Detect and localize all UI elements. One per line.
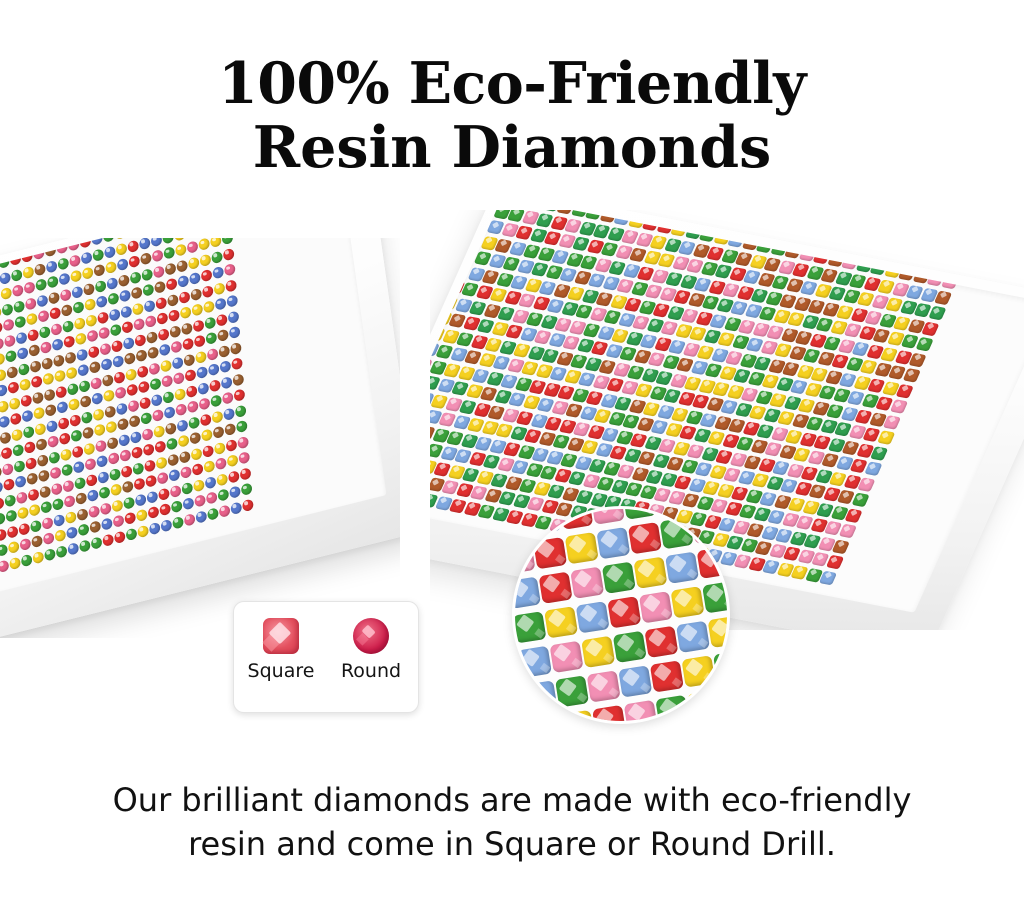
round-drill-bead	[35, 438, 47, 452]
round-gem-icon	[353, 618, 389, 654]
round-drill-bead	[28, 344, 40, 358]
round-drill-bead	[82, 266, 94, 280]
round-drill-bead	[230, 341, 242, 355]
round-drill-bead	[109, 467, 121, 481]
round-drill-bead	[16, 491, 28, 505]
round-drill-bead	[160, 359, 172, 373]
round-drill-bead	[136, 509, 148, 523]
round-drill-bead	[237, 435, 249, 449]
round-drill-bead	[112, 355, 124, 369]
round-drill-bead	[0, 255, 10, 269]
magnified-square-drill	[681, 655, 715, 687]
round-drill-bead	[238, 451, 250, 465]
round-drill-bead	[47, 435, 59, 449]
round-drill-bead	[167, 293, 179, 307]
square-drill-bead	[445, 245, 463, 260]
round-drill-bead	[108, 308, 120, 322]
round-drill-bead	[192, 463, 204, 477]
round-drill-bead	[60, 448, 72, 462]
round-drill-bead	[3, 318, 15, 332]
round-drill-bead	[210, 394, 222, 408]
round-drill-bead	[30, 519, 42, 533]
round-drill-bead	[211, 250, 223, 264]
round-drill-bead	[119, 449, 131, 463]
round-drill-bead	[117, 417, 129, 431]
round-drill-bead	[114, 386, 126, 400]
round-drill-bead	[44, 547, 56, 561]
round-drill-bead	[19, 378, 31, 392]
round-drill-bead	[146, 330, 158, 344]
magnified-square-drill	[512, 720, 531, 724]
legend-label-round: Round	[341, 660, 401, 682]
round-drill-bead	[223, 407, 235, 421]
magnified-square-drill	[523, 680, 557, 712]
round-drill-bead	[24, 441, 36, 455]
round-drill-bead	[230, 501, 242, 515]
magnified-square-drill	[512, 611, 546, 643]
round-drill-bead	[175, 243, 187, 257]
round-drill-bead	[178, 290, 190, 304]
round-drill-bead	[85, 313, 97, 327]
magnified-square-drill	[660, 517, 694, 549]
round-drill-bead	[174, 387, 186, 401]
round-drill-bead	[65, 510, 77, 524]
magnified-square-drill	[592, 705, 626, 724]
round-drill-bead	[141, 427, 153, 441]
magnified-square-drill	[618, 665, 652, 697]
round-drill-bead	[153, 424, 165, 438]
round-drill-bead	[17, 347, 29, 361]
round-drill-bead	[143, 299, 155, 313]
round-drill-bead	[111, 339, 123, 353]
round-drill-bead	[146, 490, 158, 504]
round-drill-bead	[100, 502, 112, 516]
round-drill-bead	[143, 443, 155, 457]
round-drill-bead	[152, 409, 164, 423]
round-drill-bead	[80, 251, 92, 265]
round-drill-bead	[13, 459, 25, 473]
round-drill-bead	[93, 264, 105, 278]
round-drill-bead	[27, 488, 39, 502]
round-drill-bead	[124, 352, 136, 366]
round-drill-bead	[4, 334, 16, 348]
magnifier-circle	[512, 506, 730, 724]
magnified-square-drill	[596, 527, 630, 559]
round-drill-bead	[222, 391, 234, 405]
round-drill-bead	[22, 265, 34, 279]
round-drill-bead	[204, 475, 216, 489]
round-drill-bead	[182, 497, 194, 511]
round-drill-bead	[226, 454, 238, 468]
round-drill-bead	[39, 325, 51, 339]
round-drill-bead	[192, 319, 204, 333]
round-drill-bead	[195, 510, 207, 524]
round-drill-bead	[204, 316, 216, 330]
round-drill-bead	[176, 419, 188, 433]
round-drill-bead	[0, 543, 8, 557]
round-drill-bead	[62, 319, 74, 333]
round-drill-bead	[217, 488, 229, 502]
round-drill-bead	[130, 430, 142, 444]
round-drill-bead	[38, 469, 50, 483]
round-drill-bead	[168, 309, 180, 323]
product-infographic: 100% Eco-Friendly Resin Diamonds Square …	[0, 0, 1024, 923]
round-drill-bead	[172, 356, 184, 370]
round-drill-bead	[41, 356, 53, 370]
round-drill-bead	[198, 397, 210, 411]
round-drill-bead	[226, 294, 238, 308]
round-drill-bead	[198, 238, 210, 251]
magnified-square-drill	[581, 636, 615, 668]
round-drill-bead	[29, 359, 41, 373]
round-drill-bead	[18, 522, 30, 536]
square-drill-bead	[430, 292, 444, 307]
legend-item-square[interactable]: Square	[243, 618, 319, 682]
round-drill-bead	[74, 476, 86, 490]
round-drill-bead	[32, 391, 44, 405]
round-drill-bead	[215, 457, 227, 471]
round-drill-bead	[55, 545, 67, 559]
round-drill-bead	[133, 318, 145, 332]
round-drill-bead	[83, 442, 95, 456]
round-drill-bead	[220, 376, 232, 390]
square-drill-bead	[432, 277, 450, 292]
round-drill-bead	[26, 472, 38, 486]
square-gem-icon	[263, 618, 299, 654]
round-drill-bead	[106, 436, 118, 450]
round-drill-bead	[131, 286, 143, 300]
round-drill-bead	[105, 261, 117, 275]
round-drill-bead	[229, 485, 241, 499]
round-drill-bead	[8, 396, 20, 410]
round-drill-bead	[47, 275, 59, 289]
round-drill-bead	[75, 332, 87, 346]
round-drill-bead	[23, 281, 35, 295]
magnified-square-drill	[639, 591, 673, 623]
round-drill-bead	[13, 300, 25, 314]
round-drill-bead	[72, 445, 84, 459]
round-drill-bead	[3, 478, 15, 492]
round-drill-bead	[133, 477, 145, 491]
round-drill-bead	[55, 385, 67, 399]
round-drill-bead	[135, 493, 147, 507]
round-drill-bead	[206, 491, 218, 505]
round-drill-bead	[196, 366, 208, 380]
round-drill-bead	[2, 462, 14, 476]
round-drill-bead	[193, 478, 205, 492]
round-drill-bead	[12, 443, 24, 457]
page-title: 100% Eco-Friendly Resin Diamonds	[0, 52, 1024, 180]
magnified-square-drill	[518, 646, 552, 678]
round-drill-bead	[89, 520, 101, 534]
round-drill-bead	[112, 514, 124, 528]
round-drill-bead	[163, 246, 175, 260]
round-drill-bead	[123, 336, 135, 350]
tray-well-left	[0, 238, 387, 612]
round-drill-bead	[241, 482, 253, 496]
round-drill-bead	[70, 269, 82, 283]
round-drill-bead	[158, 487, 170, 501]
round-drill-bead	[77, 363, 89, 377]
round-drill-bead	[32, 550, 44, 564]
round-drill-bead	[53, 353, 65, 367]
round-drill-bead	[51, 482, 63, 496]
round-drill-bead	[14, 315, 26, 329]
round-drill-bead	[78, 379, 90, 393]
round-drill-bead	[79, 539, 91, 553]
round-drill-bead	[44, 244, 56, 258]
round-drill-bead	[117, 258, 129, 272]
round-drill-bead	[126, 383, 138, 397]
round-drill-bead	[26, 312, 38, 326]
round-drill-bead	[116, 402, 128, 416]
round-drill-bead	[0, 399, 9, 413]
round-drill-bead	[61, 304, 73, 318]
round-drill-bead	[62, 479, 74, 493]
round-drill-bead	[43, 388, 55, 402]
round-drill-bead	[17, 506, 29, 520]
round-drill-bead	[7, 381, 19, 395]
round-drill-bead	[139, 238, 151, 250]
round-drill-bead	[102, 373, 114, 387]
round-drill-bead	[164, 262, 176, 276]
magnified-square-drill	[529, 715, 563, 724]
round-drill-bead	[186, 384, 198, 398]
round-drill-bead	[86, 329, 98, 343]
magnified-square-drill	[512, 542, 536, 574]
magnified-square-drill	[570, 567, 604, 599]
round-drill-bead	[118, 433, 130, 447]
round-drill-bead	[145, 315, 157, 329]
round-drill-bead	[227, 310, 239, 324]
round-drill-bead	[120, 464, 132, 478]
round-drill-bead	[102, 533, 114, 547]
round-drill-bead	[232, 373, 244, 387]
tray-body-left	[0, 238, 400, 638]
round-drill-bead	[147, 346, 159, 360]
round-drill-bead	[35, 278, 47, 292]
round-drill-bead	[141, 268, 153, 282]
round-drill-bead	[90, 376, 102, 390]
round-drill-bead	[188, 256, 200, 270]
round-drill-bead	[75, 492, 87, 506]
round-drill-bead	[202, 284, 214, 298]
round-drill-bead	[54, 529, 66, 543]
round-drill-bead	[156, 312, 168, 326]
round-drill-bead	[132, 302, 144, 316]
round-drill-bead	[6, 525, 18, 539]
round-drill-bead	[34, 422, 46, 436]
round-drill-bead	[236, 420, 248, 434]
round-drill-bead	[137, 524, 149, 538]
round-drill-bead	[81, 410, 93, 424]
round-drill-bead	[20, 553, 32, 567]
round-drill-bead	[181, 481, 193, 495]
round-drill-bead	[10, 412, 22, 426]
round-drill-bead	[154, 280, 166, 294]
round-drill-bead	[96, 295, 108, 309]
square-drill-bead	[452, 230, 470, 245]
round-drill-bead	[20, 394, 32, 408]
round-drill-bead	[197, 381, 209, 395]
magnified-square-drill	[622, 506, 656, 520]
round-drill-bead	[0, 271, 11, 285]
round-drill-bead	[0, 352, 5, 366]
round-drill-bead	[221, 238, 233, 245]
round-drill-bead	[127, 239, 139, 253]
round-drill-bead	[177, 434, 189, 448]
round-drill-bead	[151, 393, 163, 407]
round-drill-bead	[225, 438, 237, 452]
round-drill-bead	[21, 250, 33, 264]
round-drill-bead	[58, 272, 70, 286]
round-drill-bead	[43, 532, 55, 546]
round-drill-bead	[69, 413, 81, 427]
round-drill-bead	[242, 498, 254, 512]
round-drill-bead	[0, 287, 12, 301]
round-drill-bead	[56, 241, 68, 255]
round-drill-bead	[144, 459, 156, 473]
magnified-square-drill	[713, 650, 730, 682]
round-drill-bead	[150, 238, 162, 247]
round-drill-bead	[37, 453, 49, 467]
round-drill-bead	[151, 249, 163, 263]
round-drill-bead	[203, 460, 215, 474]
round-drill-bead	[95, 439, 107, 453]
round-drill-bead	[34, 262, 46, 276]
round-drill-bead	[78, 523, 90, 537]
round-drill-bead	[180, 466, 192, 480]
magnified-square-drill	[624, 700, 658, 724]
round-drill-bead	[132, 461, 144, 475]
round-drill-bead	[181, 322, 193, 336]
round-drill-bead	[218, 344, 230, 358]
round-drill-bead	[19, 538, 31, 552]
round-drill-bead	[71, 285, 83, 299]
round-drill-bead	[23, 425, 35, 439]
round-drill-bead	[160, 518, 172, 532]
round-drill-bead	[5, 509, 17, 523]
round-drill-bead	[76, 507, 88, 521]
magnified-square-drill	[544, 606, 578, 638]
round-drill-bead	[88, 504, 100, 518]
magnified-square-drill	[512, 577, 541, 609]
round-drill-bead	[159, 343, 171, 357]
round-drill-bead	[101, 517, 113, 531]
round-drill-bead	[169, 484, 181, 498]
magnified-square-drill	[670, 586, 704, 618]
magnified-square-drill	[655, 695, 689, 724]
round-drill-bead	[18, 362, 30, 376]
round-drill-bead	[219, 360, 231, 374]
round-drill-bead	[124, 511, 136, 525]
round-drill-bead	[92, 248, 104, 262]
round-drill-bead	[54, 369, 66, 383]
round-drill-bead	[45, 259, 57, 273]
round-drill-bead	[217, 329, 229, 343]
round-drill-bead	[154, 440, 166, 454]
round-drill-bead	[118, 273, 130, 287]
legend-item-round[interactable]: Round	[333, 618, 409, 682]
round-drill-bead	[153, 265, 165, 279]
magnified-square-drill	[539, 572, 573, 604]
round-drill-bead	[63, 495, 75, 509]
round-drill-bead	[177, 275, 189, 289]
round-drill-bead	[83, 282, 95, 296]
round-drill-bead	[40, 500, 52, 514]
round-drill-bead	[42, 372, 54, 386]
round-drill-bead	[0, 512, 6, 526]
round-drill-bead	[59, 432, 71, 446]
round-drill-bead	[165, 421, 177, 435]
round-drill-bead	[87, 489, 99, 503]
round-drill-bead	[131, 446, 143, 460]
title-line-1: 100% Eco-Friendly	[0, 52, 1024, 116]
round-drill-bead	[145, 474, 157, 488]
magnified-square-drill	[676, 621, 710, 653]
round-drill-bead	[212, 425, 224, 439]
round-drill-bead	[161, 374, 173, 388]
round-drill-bead	[169, 324, 181, 338]
round-drill-bead	[4, 493, 16, 507]
round-drill-bead	[200, 269, 212, 283]
round-drill-bead	[194, 494, 206, 508]
round-drill-bead	[33, 247, 45, 261]
magnified-square-drill	[559, 506, 593, 530]
round-drill-bead	[46, 419, 58, 433]
round-drill-bead	[140, 412, 152, 426]
round-drill-bead	[171, 500, 183, 514]
round-drill-bead	[9, 252, 21, 266]
round-drill-bead	[21, 409, 33, 423]
round-drill-bead	[5, 349, 17, 363]
round-drill-bead	[48, 291, 60, 305]
round-drill-bead	[138, 380, 150, 394]
round-drill-bead	[9, 556, 21, 570]
magnified-square-drill	[708, 616, 730, 648]
round-drill-bead	[186, 240, 198, 254]
round-drill-bead	[99, 342, 111, 356]
round-drill-bead	[72, 301, 84, 315]
round-drill-bead	[111, 499, 123, 513]
magnified-square-drill	[613, 631, 647, 663]
round-drill-bead	[188, 416, 200, 430]
round-drill-bead	[105, 420, 117, 434]
round-drill-bead	[147, 506, 159, 520]
round-drill-bead	[229, 326, 241, 340]
magnified-square-drill	[555, 675, 589, 707]
round-drill-bead	[68, 238, 80, 252]
round-drill-bead	[50, 322, 62, 336]
round-drill-bead	[51, 338, 63, 352]
round-drill-bead	[31, 535, 43, 549]
round-drill-bead	[68, 398, 80, 412]
round-drill-bead	[214, 441, 226, 455]
round-drill-bead	[228, 470, 240, 484]
round-drill-bead	[174, 238, 186, 241]
round-drill-bead	[1, 302, 13, 316]
round-drill-bead	[214, 297, 226, 311]
magnified-square-drill	[691, 512, 725, 544]
square-drill-bead	[430, 308, 438, 323]
magnified-square-drill	[650, 660, 684, 692]
magnified-square-drill	[560, 710, 594, 724]
round-drill-bead	[199, 253, 211, 267]
round-drill-bead	[190, 287, 202, 301]
round-drill-bead	[155, 296, 167, 310]
magnified-square-drill	[644, 626, 678, 658]
round-drill-bead	[191, 303, 203, 317]
